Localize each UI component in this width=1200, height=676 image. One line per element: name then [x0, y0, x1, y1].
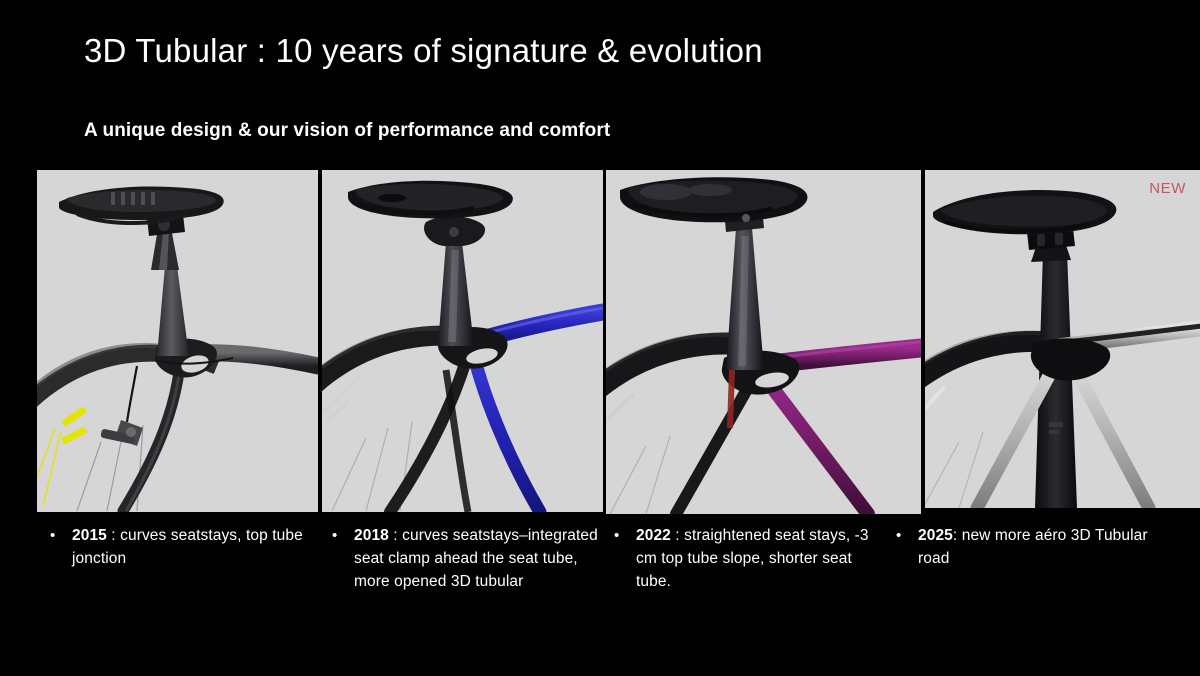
- caption-2015-text: 2015 : curves seatstays, top tube joncti…: [72, 524, 324, 570]
- panel-2018: [322, 170, 603, 512]
- panel-2015: [37, 170, 318, 512]
- caption-2018-text: 2018 : curves seatstays–integrated seat …: [354, 524, 598, 593]
- caption-2015: • 2015 : curves seatstays, top tube jonc…: [44, 524, 324, 570]
- caption-2018: • 2018 : curves seatstays–integrated sea…: [326, 524, 598, 593]
- caption-2018-separator: :: [389, 527, 402, 544]
- caption-2025: • 2025: new more aéro 3D Tubular road: [890, 524, 1160, 570]
- bullet-icon: •: [326, 524, 354, 593]
- caption-2025-year: 2025: [918, 527, 953, 544]
- caption-2022: • 2022 : straightened seat stays, -3 cm …: [608, 524, 886, 593]
- caption-2022-text: 2022 : straightened seat stays, -3 cm to…: [636, 524, 886, 593]
- caption-row: • 2015 : curves seatstays, top tube jonc…: [0, 524, 1200, 664]
- page-subtitle: A unique design & our vision of performa…: [84, 120, 610, 142]
- caption-2018-year: 2018: [354, 527, 389, 544]
- status-badge-new: NEW: [1149, 180, 1186, 197]
- caption-2015-year: 2015: [72, 527, 107, 544]
- bike-image-2018: [322, 170, 603, 512]
- panel-strip: NEW: [37, 170, 1165, 514]
- bullet-icon: •: [608, 524, 636, 593]
- slide-root: 3D Tubular : 10 years of signature & evo…: [0, 0, 1200, 676]
- caption-2022-separator: :: [671, 527, 684, 544]
- bike-image-2022: [606, 170, 921, 514]
- caption-2025-text: 2025: new more aéro 3D Tubular road: [918, 524, 1160, 570]
- panel-2022: [606, 170, 921, 514]
- bike-image-2025: [925, 170, 1200, 508]
- caption-2015-separator: :: [107, 527, 120, 544]
- caption-2025-separator: :: [953, 527, 962, 544]
- caption-2022-year: 2022: [636, 527, 671, 544]
- bullet-icon: •: [890, 524, 918, 570]
- bike-image-2015: [37, 170, 318, 512]
- bullet-icon: •: [44, 524, 72, 570]
- page-title: 3D Tubular : 10 years of signature & evo…: [84, 32, 763, 70]
- panel-2025: NEW: [925, 170, 1200, 508]
